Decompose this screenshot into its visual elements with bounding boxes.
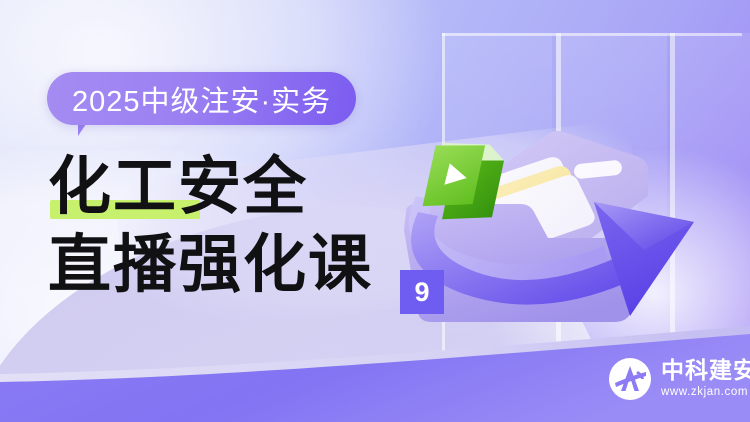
brand-logo: 中科建安 www.zkjan.com	[608, 357, 750, 401]
headline-line-1: 化工安全	[48, 151, 308, 223]
brand-name: 中科建安	[661, 359, 750, 384]
course-banner: 2025中级注安·实务 化工安全 直播强化课 9 中科建安 www.zkjan.…	[0, 0, 750, 422]
episode-badge: 9	[400, 270, 444, 314]
zkjan-logo-icon	[608, 357, 652, 401]
brand-url: www.zkjan.com	[661, 385, 750, 399]
headline-line-1-row: 化工安全	[48, 148, 468, 226]
headline-line-2: 直播强化课	[48, 229, 373, 301]
course-category-tag: 2025中级注安·实务	[47, 72, 356, 125]
brand-logo-text: 中科建安 www.zkjan.com	[661, 359, 750, 399]
tag-label: 2025中级注安·实务	[72, 78, 331, 120]
episode-number: 9	[414, 279, 429, 306]
